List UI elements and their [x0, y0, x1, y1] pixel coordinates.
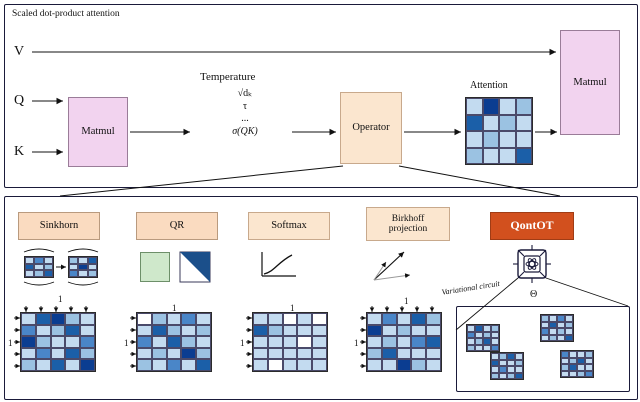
- heatmap-cell: [25, 264, 34, 271]
- heatmap-cell: [88, 270, 97, 277]
- heatmap-cell: [397, 313, 412, 325]
- heatmap-cell: [167, 348, 182, 360]
- sinkhorn-matrix: [20, 312, 96, 372]
- heatmap-cell: [44, 270, 53, 277]
- matmul-left-box: Matmul: [68, 97, 128, 167]
- heatmap-cell: [80, 348, 95, 360]
- sinkhorn-row-label: 1: [8, 338, 13, 348]
- heatmap-cell: [367, 313, 382, 325]
- heatmap-cell: [36, 348, 51, 360]
- input-label-q: Q: [14, 93, 24, 109]
- heatmap-cell: [411, 325, 426, 337]
- qr-matrix: [136, 312, 212, 372]
- heatmap-cell: [297, 313, 312, 325]
- heatmap-cell: [397, 348, 412, 360]
- heatmap-cell: [426, 336, 441, 348]
- heatmap-cell: [426, 348, 441, 360]
- heatmap-cell: [167, 313, 182, 325]
- heatmap-cell: [36, 336, 51, 348]
- top-panel-title: Scaled dot-product attention: [12, 9, 120, 19]
- heatmap-cell: [411, 348, 426, 360]
- birkhoff-row-label: 1: [354, 338, 359, 348]
- temperature-item-1: τ: [205, 101, 285, 114]
- heatmap-cell: [34, 264, 43, 271]
- heatmap-cell: [196, 336, 211, 348]
- heatmap-cell: [367, 336, 382, 348]
- heatmap-cell: [44, 264, 53, 271]
- heatmap-cell: [268, 325, 283, 337]
- heatmap-cell: [196, 359, 211, 371]
- heatmap-cell: [475, 345, 483, 352]
- heatmap-cell: [367, 325, 382, 337]
- heatmap-cell: [541, 335, 549, 342]
- heatmap-cell: [382, 325, 397, 337]
- heatmap-cell: [51, 348, 66, 360]
- heatmap-cell: [491, 345, 499, 352]
- heatmap-cell: [152, 359, 167, 371]
- heatmap-cell: [181, 359, 196, 371]
- heatmap-cell: [253, 348, 268, 360]
- matmul-right-box: Matmul: [560, 30, 620, 135]
- heatmap-cell: [297, 336, 312, 348]
- heatmap-cell: [21, 313, 36, 325]
- birkhoff-col-label: 1: [404, 296, 409, 306]
- heatmap-cell: [507, 373, 515, 380]
- heatmap-cell: [426, 313, 441, 325]
- heatmap-cell: [34, 257, 43, 264]
- heatmap-cell: [65, 336, 80, 348]
- heatmap-cell: [283, 325, 298, 337]
- heatmap-cell: [51, 359, 66, 371]
- heatmap-cell: [297, 359, 312, 371]
- theta-label: Θ: [530, 289, 537, 300]
- heatmap-cell: [25, 257, 34, 264]
- heatmap-cell: [36, 359, 51, 371]
- qr-row-label: 1: [124, 338, 129, 348]
- heatmap-cell: [253, 336, 268, 348]
- heatmap-cell: [516, 115, 533, 132]
- heatmap-cell: [382, 336, 397, 348]
- operator-box: Operator: [340, 92, 402, 164]
- heatmap-cell: [36, 313, 51, 325]
- method-box-qr[interactable]: QR: [136, 212, 218, 240]
- method-box-softmax[interactable]: Softmax: [248, 212, 330, 240]
- heatmap-cell: [561, 371, 569, 378]
- heatmap-cell: [499, 98, 516, 115]
- heatmap-cell: [65, 313, 80, 325]
- heatmap-cell: [181, 336, 196, 348]
- heatmap-cell: [44, 257, 53, 264]
- heatmap-cell: [78, 264, 87, 271]
- heatmap-cell: [297, 325, 312, 337]
- heatmap-cell: [483, 98, 500, 115]
- heatmap-cell: [382, 313, 397, 325]
- heatmap-cell: [297, 348, 312, 360]
- heatmap-cell: [167, 336, 182, 348]
- heatmap-cell: [268, 348, 283, 360]
- heatmap-cell: [137, 359, 152, 371]
- heatmap-cell: [283, 359, 298, 371]
- heatmap-cell: [78, 257, 87, 264]
- heatmap-cell: [152, 336, 167, 348]
- heatmap-cell: [411, 359, 426, 371]
- heatmap-cell: [21, 325, 36, 337]
- heatmap-cell: [196, 313, 211, 325]
- heatmap-cell: [196, 348, 211, 360]
- heatmap-cell: [397, 359, 412, 371]
- heatmap-cell: [382, 348, 397, 360]
- heatmap-cell: [367, 359, 382, 371]
- heatmap-cell: [283, 313, 298, 325]
- heatmap-cell: [25, 270, 34, 277]
- sinkhorn-icon-matrix-left: [24, 256, 54, 278]
- variational-circuit-mini-matrix-0: [466, 324, 500, 352]
- heatmap-cell: [312, 348, 327, 360]
- softmax-row-label: 1: [240, 338, 245, 348]
- heatmap-cell: [585, 371, 593, 378]
- heatmap-cell: [397, 336, 412, 348]
- heatmap-cell: [557, 335, 565, 342]
- heatmap-cell: [21, 359, 36, 371]
- heatmap-cell: [65, 325, 80, 337]
- heatmap-cell: [65, 348, 80, 360]
- heatmap-cell: [181, 325, 196, 337]
- softmax-matrix: [252, 312, 328, 372]
- temperature-item-3: σ(QK): [205, 126, 285, 139]
- heatmap-cell: [312, 359, 327, 371]
- heatmap-cell: [426, 359, 441, 371]
- qr-icon-green-square: [140, 252, 170, 282]
- heatmap-cell: [411, 336, 426, 348]
- heatmap-cell: [483, 115, 500, 132]
- heatmap-cell: [283, 348, 298, 360]
- heatmap-cell: [80, 313, 95, 325]
- heatmap-cell: [88, 257, 97, 264]
- variational-circuit-mini-matrix-2: [490, 352, 524, 380]
- heatmap-cell: [483, 345, 491, 352]
- heatmap-cell: [565, 335, 573, 342]
- heatmap-cell: [253, 313, 268, 325]
- heatmap-cell: [411, 313, 426, 325]
- heatmap-cell: [137, 313, 152, 325]
- heatmap-cell: [137, 325, 152, 337]
- heatmap-cell: [167, 359, 182, 371]
- heatmap-cell: [36, 325, 51, 337]
- heatmap-cell: [51, 313, 66, 325]
- heatmap-cell: [78, 270, 87, 277]
- variational-circuit-mini-matrix-1: [540, 314, 574, 342]
- heatmap-cell: [80, 336, 95, 348]
- heatmap-cell: [88, 264, 97, 271]
- heatmap-cell: [268, 359, 283, 371]
- temperature-options: √dₖ τ ... σ(QK): [205, 88, 285, 138]
- temperature-item-0: √dₖ: [205, 88, 285, 101]
- heatmap-cell: [516, 98, 533, 115]
- heatmap-cell: [181, 348, 196, 360]
- heatmap-cell: [483, 131, 500, 148]
- heatmap-cell: [466, 131, 483, 148]
- heatmap-cell: [152, 313, 167, 325]
- heatmap-cell: [152, 348, 167, 360]
- heatmap-cell: [549, 335, 557, 342]
- heatmap-cell: [312, 325, 327, 337]
- heatmap-cell: [515, 373, 523, 380]
- attention-heatmap: [465, 97, 533, 165]
- heatmap-cell: [569, 371, 577, 378]
- heatmap-cell: [137, 348, 152, 360]
- heatmap-cell: [312, 336, 327, 348]
- heatmap-cell: [69, 257, 78, 264]
- heatmap-cell: [21, 336, 36, 348]
- sinkhorn-col-label: 1: [58, 294, 63, 304]
- heatmap-cell: [51, 325, 66, 337]
- heatmap-cell: [196, 325, 211, 337]
- attention-label: Attention: [470, 80, 508, 91]
- birkhoff-matrix: [366, 312, 442, 372]
- heatmap-cell: [499, 148, 516, 165]
- heatmap-cell: [367, 348, 382, 360]
- figure-root: Scaled dot-product attention V Q K Matmu…: [0, 0, 640, 402]
- temperature-item-2: ...: [205, 113, 285, 126]
- heatmap-cell: [152, 325, 167, 337]
- heatmap-cell: [80, 359, 95, 371]
- temperature-label: Temperature: [200, 71, 255, 83]
- heatmap-cell: [268, 313, 283, 325]
- input-label-k: K: [14, 144, 24, 160]
- heatmap-cell: [516, 131, 533, 148]
- heatmap-cell: [466, 98, 483, 115]
- heatmap-cell: [137, 336, 152, 348]
- heatmap-cell: [577, 371, 585, 378]
- heatmap-cell: [69, 270, 78, 277]
- heatmap-cell: [167, 325, 182, 337]
- heatmap-cell: [181, 313, 196, 325]
- heatmap-cell: [253, 325, 268, 337]
- heatmap-cell: [491, 373, 499, 380]
- heatmap-cell: [466, 115, 483, 132]
- heatmap-cell: [34, 270, 43, 277]
- heatmap-cell: [426, 325, 441, 337]
- heatmap-cell: [69, 264, 78, 271]
- heatmap-cell: [466, 148, 483, 165]
- sinkhorn-icon-matrix-right: [68, 256, 98, 278]
- heatmap-cell: [65, 359, 80, 371]
- heatmap-cell: [499, 131, 516, 148]
- heatmap-cell: [467, 345, 475, 352]
- method-box-qontot[interactable]: QontOT: [490, 212, 574, 240]
- heatmap-cell: [483, 148, 500, 165]
- heatmap-cell: [516, 148, 533, 165]
- heatmap-cell: [253, 359, 268, 371]
- heatmap-cell: [51, 336, 66, 348]
- method-box-birkhoff[interactable]: Birkhoff projection: [366, 207, 450, 241]
- heatmap-cell: [283, 336, 298, 348]
- method-box-sinkhorn[interactable]: Sinkhorn: [18, 212, 100, 240]
- heatmap-cell: [80, 325, 95, 337]
- heatmap-cell: [21, 348, 36, 360]
- variational-circuit-mini-matrix-3: [560, 350, 594, 378]
- heatmap-cell: [382, 359, 397, 371]
- heatmap-cell: [312, 313, 327, 325]
- heatmap-cell: [499, 373, 507, 380]
- input-label-v: V: [14, 44, 24, 60]
- heatmap-cell: [499, 115, 516, 132]
- heatmap-cell: [268, 336, 283, 348]
- heatmap-cell: [397, 325, 412, 337]
